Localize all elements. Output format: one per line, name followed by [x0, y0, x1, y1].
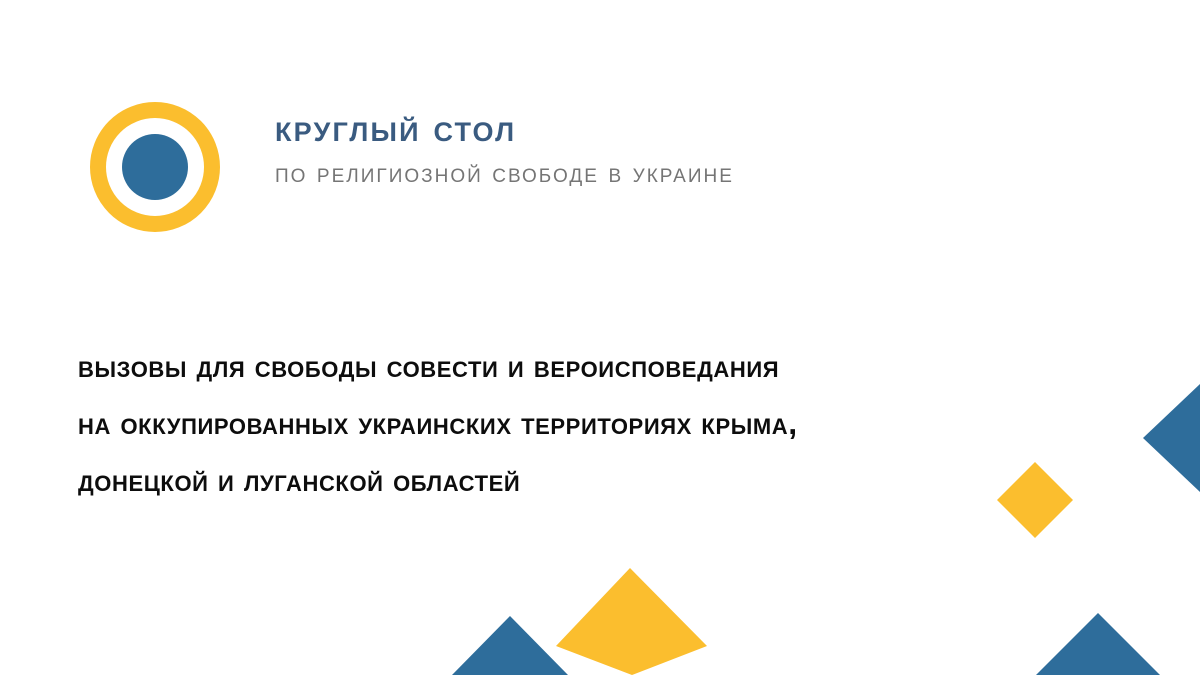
- blue-triangle-left-pointing-icon: [1143, 384, 1200, 492]
- brand-text-block: Круглый стол по религиозной свободе в Ук…: [275, 110, 1075, 189]
- concentric-circles-logo-icon: [90, 102, 220, 232]
- presentation-slide: Круглый стол по религиозной свободе в Ук…: [0, 0, 1200, 675]
- slide-headline: Вызовы для свободы совести и вероисповед…: [78, 338, 1098, 509]
- brand-header: Круглый стол по религиозной свободе в Ук…: [90, 102, 990, 234]
- brand-title: Круглый стол: [275, 110, 1075, 150]
- blue-triangle-bottom-center-icon: [452, 616, 568, 675]
- yellow-diamond-large-icon: [556, 568, 707, 675]
- blue-triangle-bottom-right-icon: [1036, 613, 1160, 675]
- headline-line-3: Донецкой и Луганской областей: [78, 452, 1098, 509]
- headline-line-1: Вызовы для свободы совести и вероисповед…: [78, 338, 1098, 395]
- brand-subtitle: по религиозной свободе в Украине: [275, 157, 1075, 189]
- headline-line-2: на оккупированных украинских территориях…: [78, 395, 1098, 452]
